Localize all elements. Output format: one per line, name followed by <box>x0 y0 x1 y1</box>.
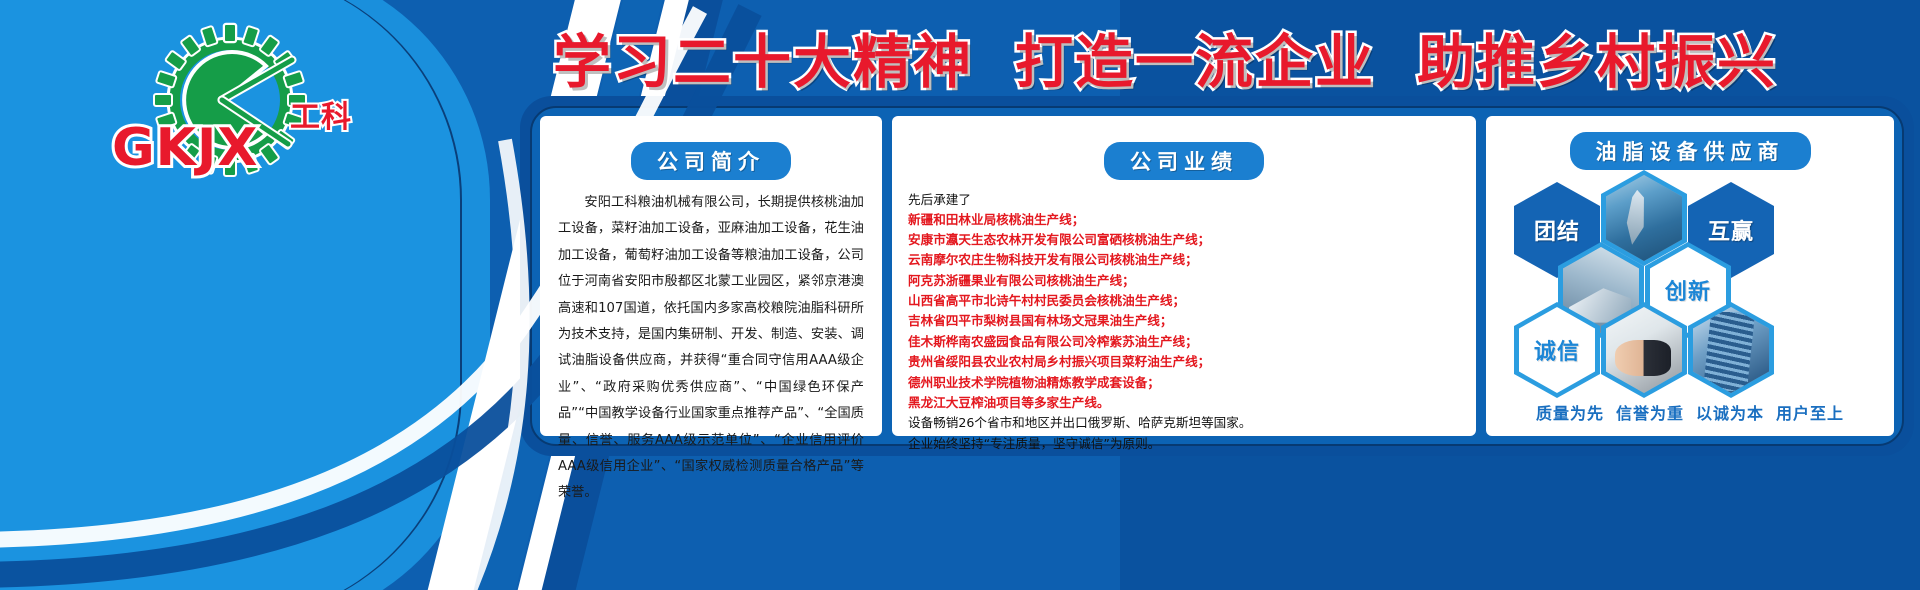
panel-company-profile-heading-wrap: 公司简介 <box>558 142 864 180</box>
panel-supplier-heading: 油脂设备供应商 <box>1570 132 1811 170</box>
title-part-3: 助推乡村振兴 <box>1417 15 1777 99</box>
performance-project-item: 佳木斯桦南农盛园食品有限公司冷榨紫苏油生产线； <box>908 332 1460 352</box>
supplier-hexagon-grid: 团结互赢创新诚信 <box>1496 180 1884 392</box>
hexagon-label: 团结 <box>1534 214 1580 246</box>
panel-supplier: 油脂设备供应商 团结互赢创新诚信 质量为先信誉为重以诚为本用户至上 <box>1486 116 1894 436</box>
performance-footer: 设备畅销26个省市和地区并出口俄罗斯、哈萨克斯坦等国家。企业始终坚持“专注质量，… <box>908 413 1460 454</box>
page-title: 学习二十大精神 打造一流企业 助推乡村振兴 <box>430 16 1900 98</box>
logo-wordmark: GKJX <box>112 118 332 178</box>
panel-supplier-heading-wrap: 油脂设备供应商 <box>1496 132 1884 170</box>
performance-project-item: 阿克苏浙疆果业有限公司核桃油生产线； <box>908 271 1460 291</box>
performance-project-item: 安康市瀛天生态农林开发有限公司富硒核桃油生产线； <box>908 230 1460 250</box>
panel-company-performance-heading-wrap: 公司业绩 <box>908 142 1460 180</box>
handshake-photo-icon <box>1606 307 1682 393</box>
supplier-slogan-part: 信誉为重 <box>1616 404 1684 423</box>
aircraft-carrier-photo-icon <box>1606 175 1682 261</box>
panel-row: 公司简介 安阳工科粮油机械有限公司，长期提供核桃油加工设备，菜籽油加工设备，亚麻… <box>540 116 1894 436</box>
poster-canvas: 工科 GKJX 学习二十大精神 打造一流企业 助推乡村振兴 公司简介 安阳工科粮… <box>0 0 1920 590</box>
skyscraper-photo-icon <box>1693 307 1769 393</box>
hexagon-label: 诚信 <box>1534 334 1580 366</box>
performance-project-item: 新疆和田林业局核桃油生产线； <box>908 210 1460 230</box>
performance-footer-line: 企业始终坚持“专注质量，坚守诚信”为原则。 <box>908 434 1460 454</box>
title-part-1: 学习二十大精神 <box>553 15 973 99</box>
performance-project-item: 贵州省绥阳县农业农村局乡村振兴项目菜籽油生产线； <box>908 352 1460 372</box>
hexagon-inner <box>1693 307 1769 393</box>
hexagon-label: 互赢 <box>1708 214 1754 246</box>
supplier-slogan: 质量为先信誉为重以诚为本用户至上 <box>1496 400 1884 424</box>
performance-footer-line: 设备畅销26个省市和地区并出口俄罗斯、哈萨克斯坦等国家。 <box>908 413 1460 433</box>
panel-company-profile-heading: 公司简介 <box>631 142 791 180</box>
performance-project-list: 新疆和田林业局核桃油生产线；安康市瀛天生态农林开发有限公司富硒核桃油生产线；云南… <box>908 210 1460 414</box>
performance-intro: 先后承建了 <box>908 190 1460 210</box>
performance-project-item: 吉林省四平市梨树县国有林场文冠果油生产线； <box>908 311 1460 331</box>
hexagon-inner <box>1606 307 1682 393</box>
performance-project-item: 云南摩尔农庄生物科技开发有限公司核桃油生产线； <box>908 250 1460 270</box>
performance-project-item: 山西省高平市北诗午村村民委员会核桃油生产线； <box>908 291 1460 311</box>
panel-company-performance-heading: 公司业绩 <box>1104 142 1264 180</box>
hexagon-inner: 诚信 <box>1519 307 1595 393</box>
performance-project-item: 德州职业技术学院植物油精炼教学成套设备； <box>908 373 1460 393</box>
panel-company-performance: 公司业绩 先后承建了 新疆和田林业局核桃油生产线；安康市瀛天生态农林开发有限公司… <box>892 116 1476 436</box>
hexagon-label: 创新 <box>1665 274 1711 306</box>
performance-project-item: 黑龙江大豆榨油项目等多家生产线。 <box>908 393 1460 413</box>
hexagon-inner <box>1606 175 1682 261</box>
supplier-slogan-part: 用户至上 <box>1776 404 1844 423</box>
title-part-2: 打造一流企业 <box>1015 15 1375 99</box>
supplier-slogan-part: 以诚为本 <box>1696 404 1764 423</box>
panel-company-profile: 公司简介 安阳工科粮油机械有限公司，长期提供核桃油加工设备，菜籽油加工设备，亚麻… <box>540 116 882 436</box>
company-profile-body: 安阳工科粮油机械有限公司，长期提供核桃油加工设备，菜籽油加工设备，亚麻油加工设备… <box>558 190 864 507</box>
supplier-slogan-part: 质量为先 <box>1536 404 1604 423</box>
